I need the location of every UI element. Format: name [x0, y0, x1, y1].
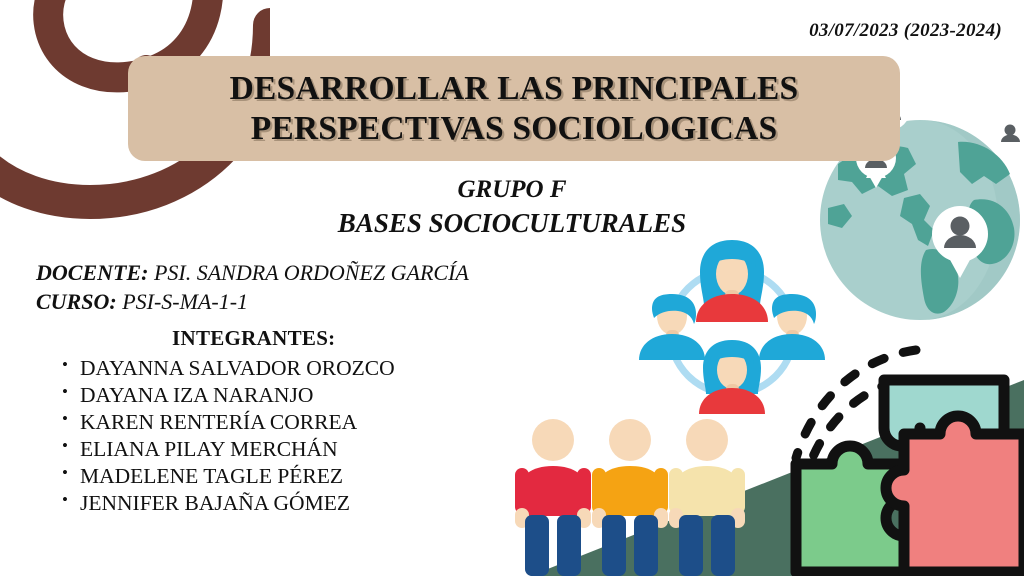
three-people-holding-hands-icon: [495, 412, 765, 576]
teacher-name: PSI. SANDRA ORDOÑEZ GARCÍA: [154, 260, 469, 285]
group-label: GRUPO F: [0, 174, 1024, 206]
teacher-label: DOCENTE:: [36, 260, 148, 285]
title-line-2: PERSPECTIVAS SOCIOLOGICAS: [251, 109, 778, 148]
list-item: MADELENE TAGLE PÉREZ: [60, 463, 395, 490]
slide-canvas: 03/07/2023 (2023-2024) DESARROLLAR LAS P…: [0, 0, 1024, 576]
list-item: KAREN RENTERÍA CORREA: [60, 409, 395, 436]
green-diagonal-shape: [470, 380, 1024, 576]
course-label: CURSO:: [36, 289, 117, 314]
teacher-row: DOCENTE: PSI. SANDRA ORDOÑEZ GARCÍA: [36, 258, 469, 287]
people-network-diagram-icon: [634, 232, 830, 428]
subject-label: BASES SOCIOCULTURALES: [0, 206, 1024, 241]
list-item: DAYANA IZA NARANJO: [60, 382, 395, 409]
title-line-1: DESARROLLAR LAS PRINCIPALES: [230, 69, 799, 108]
list-item: ELIANA PILAY MERCHÁN: [60, 436, 395, 463]
three-puzzle-pieces-icon: [788, 336, 1024, 576]
course-row: CURSO: PSI-S-MA-1-1: [36, 287, 469, 316]
date-label: 03/07/2023 (2023-2024): [809, 20, 1002, 42]
course-code: PSI-S-MA-1-1: [122, 289, 248, 314]
course-info-block: DOCENTE: PSI. SANDRA ORDOÑEZ GARCÍA CURS…: [36, 258, 469, 317]
group-subject-block: GRUPO F BASES SOCIOCULTURALES: [0, 174, 1024, 241]
list-item: DAYANNA SALVADOR OROZCO: [60, 355, 395, 382]
list-item: JENNIFER BAJAÑA GÓMEZ: [60, 490, 395, 517]
title-banner: DESARROLLAR LAS PRINCIPALES PERSPECTIVAS…: [128, 56, 900, 161]
members-list: DAYANNA SALVADOR OROZCO DAYANA IZA NARAN…: [60, 355, 395, 517]
members-block: INTEGRANTES: DAYANNA SALVADOR OROZCO DAY…: [60, 326, 395, 517]
members-heading: INTEGRANTES:: [172, 326, 395, 351]
